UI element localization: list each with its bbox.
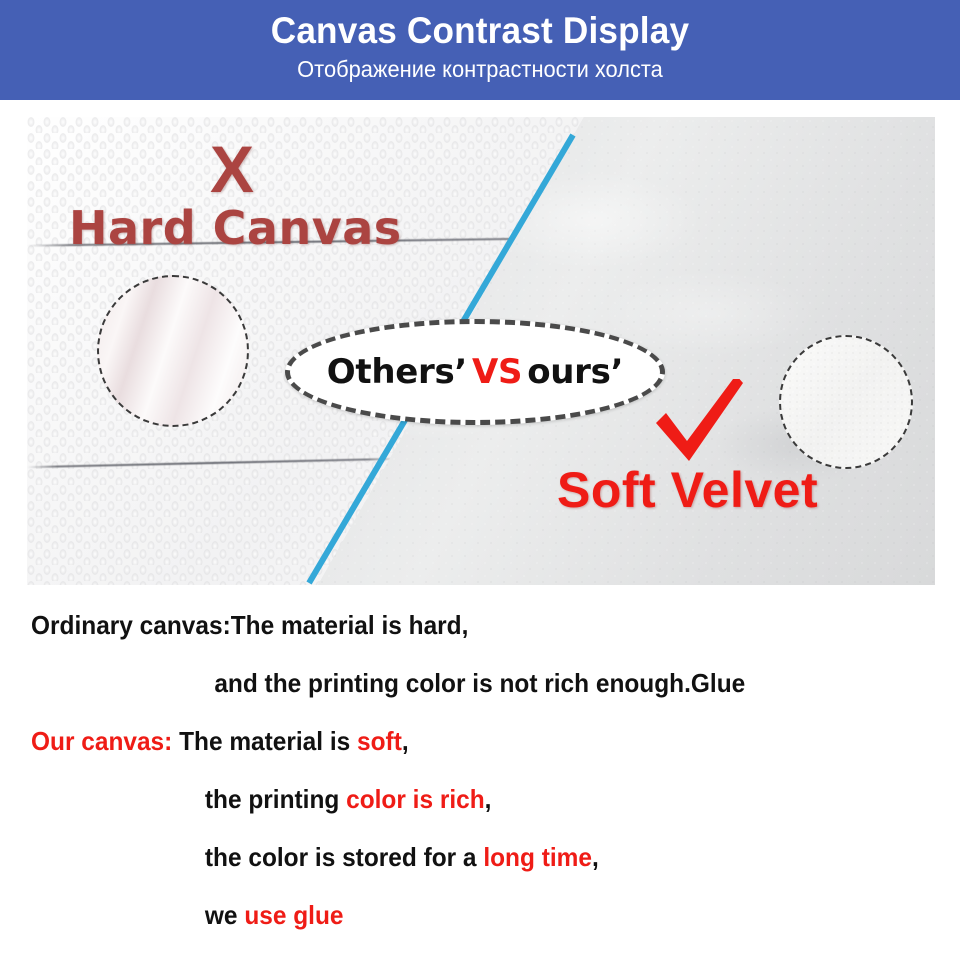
copy-text-run: the color is stored for a xyxy=(205,842,483,872)
copy-text-run: The material is xyxy=(172,726,357,756)
copy-text-run: the printing xyxy=(205,784,346,814)
page-title: Canvas Contrast Display xyxy=(24,8,936,54)
copy-text-run: The material is hard, xyxy=(231,610,469,640)
comparison-photo: X Hard Canvas Soft Velvet Others’VSours’ xyxy=(27,117,935,585)
hard-canvas-label: Hard Canvas xyxy=(69,203,402,253)
copy-text-run: and the printing color is not rich enoug… xyxy=(214,668,745,698)
copy-text-run: we xyxy=(205,900,244,930)
description-copy: Ordinary canvas:The material is hard, an… xyxy=(0,596,960,944)
page-header: Canvas Contrast Display Отображение конт… xyxy=(0,0,960,100)
versus-badge-text: Others’VSours’ xyxy=(327,352,623,392)
copy-text-run: , xyxy=(402,726,409,756)
copy-line-ordinary-1: Ordinary canvas:The material is hard, xyxy=(0,596,902,654)
copy-text-run: Ordinary canvas: xyxy=(31,610,231,640)
copy-line-ordinary-2: and the printing color is not rich enoug… xyxy=(0,654,902,712)
copy-line-ours-2: the printing color is rich, xyxy=(0,770,902,828)
copy-text-run: use glue xyxy=(244,900,343,930)
copy-line-ours-4: we use glue xyxy=(0,886,902,944)
copy-text-run: Our canvas: xyxy=(31,726,172,756)
soft-velvet-label: Soft Velvet xyxy=(557,462,818,518)
copy-text-run: color is rich xyxy=(346,784,485,814)
copy-text-run: soft xyxy=(357,726,402,756)
hard-canvas-zoom-circle xyxy=(97,275,249,427)
versus-middle-text: VS xyxy=(472,352,522,392)
page-subtitle: Отображение контрастности холста xyxy=(24,54,936,84)
soft-velvet-zoom-circle xyxy=(779,335,913,469)
versus-right-text: ours’ xyxy=(527,352,623,392)
versus-left-text: Others’ xyxy=(327,352,467,392)
copy-line-ours-3: the color is stored for a long time, xyxy=(0,828,902,886)
cross-icon: X xyxy=(210,136,254,202)
copy-text-run: long time xyxy=(483,842,592,872)
versus-badge: Others’VSours’ xyxy=(285,319,665,425)
copy-text-run: , xyxy=(485,784,492,814)
check-icon xyxy=(651,379,743,464)
copy-line-ours-1: Our canvas: The material is soft, xyxy=(0,712,902,770)
copy-text-run: , xyxy=(592,842,599,872)
